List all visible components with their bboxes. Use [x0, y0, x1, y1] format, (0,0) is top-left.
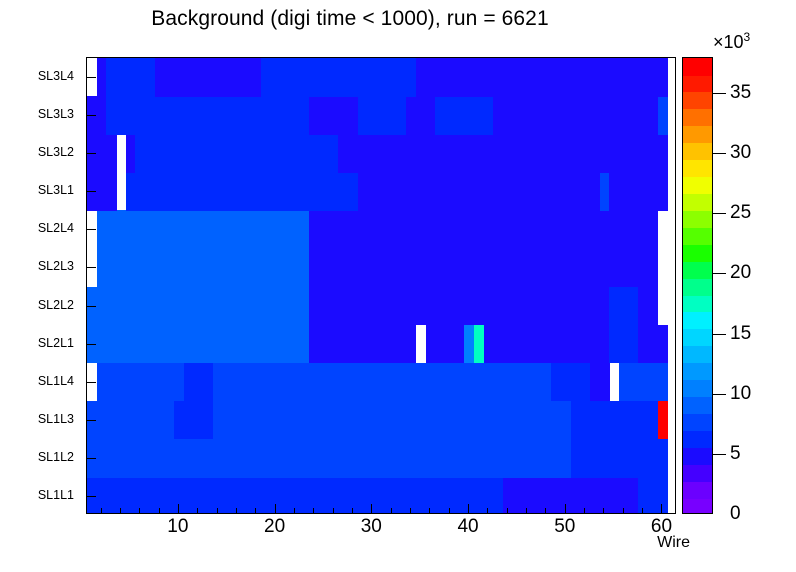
color-bar-segment [683, 244, 712, 262]
y-axis-tick [87, 77, 96, 78]
color-bar-tick [713, 394, 726, 395]
color-bar-tick-label: 25 [730, 202, 751, 224]
x-axis-minor-tick [603, 508, 604, 514]
y-axis-tick-label: SL2L2 [38, 298, 74, 312]
y-axis-tick [87, 496, 96, 497]
y-axis-tick-label: SL3L2 [38, 145, 74, 159]
color-bar-segment [683, 160, 712, 178]
color-bar-tick [713, 334, 726, 335]
x-axis-major-tick [661, 504, 662, 514]
color-bar-axis: 05101520253035 [713, 57, 793, 514]
x-axis-minor-tick [526, 508, 527, 514]
color-bar-segment [683, 143, 712, 161]
color-bar-tick-label: 35 [730, 82, 751, 104]
color-bar-segment [683, 430, 712, 448]
heatmap-cell [648, 287, 658, 326]
y-axis-tick [87, 458, 96, 459]
x-axis-minor-tick [255, 508, 256, 514]
x-axis-minor-tick [642, 508, 643, 514]
x-axis-minor-tick [545, 508, 546, 514]
x-axis-minor-tick [429, 508, 430, 514]
x-axis-major-tick [178, 504, 179, 514]
color-bar-exponent-base: ×10 [713, 32, 744, 52]
y-axis-tick-label: SL2L3 [38, 259, 74, 273]
color-bar-tick-label: 20 [730, 262, 751, 284]
x-axis-minor-tick [236, 508, 237, 514]
color-bar-tick-label: 5 [730, 443, 741, 465]
color-bar-segment [683, 278, 712, 296]
heatmap-cell [106, 134, 116, 173]
x-axis-minor-tick [487, 508, 488, 514]
heatmap-cell [658, 401, 668, 440]
y-axis-tick [87, 306, 96, 307]
x-axis-minor-tick [584, 508, 585, 514]
heatmap-cell [406, 325, 416, 364]
color-bar-exponent-power: 3 [744, 30, 751, 44]
heatmap-cell [658, 477, 668, 514]
y-axis-tick [87, 420, 96, 421]
color-bar-tick-label: 15 [730, 323, 751, 345]
x-axis-minor-tick [120, 508, 121, 514]
color-bar [682, 57, 713, 514]
color-bar-segment [683, 92, 712, 110]
color-bar-segment [683, 58, 712, 76]
y-axis-tick-label: SL3L1 [38, 183, 74, 197]
heatmap-cell [658, 439, 668, 478]
color-bar-segment [683, 126, 712, 144]
x-axis-minor-tick [217, 508, 218, 514]
color-bar-segment [683, 329, 712, 347]
y-axis-tick-label: SL1L2 [38, 450, 74, 464]
color-bar-segment [683, 210, 712, 228]
color-bar-segment [683, 346, 712, 364]
heatmap-cell [658, 172, 668, 211]
color-bar-segment [683, 295, 712, 313]
heatmap-cell [658, 58, 668, 97]
page-title: Background (digi time < 1000), run = 662… [0, 7, 700, 31]
color-bar-segment [683, 464, 712, 482]
x-axis-minor-tick [159, 508, 160, 514]
color-bar-segment [683, 176, 712, 194]
color-bar-tick-label: 10 [730, 383, 751, 405]
x-axis-minor-tick [507, 508, 508, 514]
color-bar-segment [683, 109, 712, 127]
y-axis-tick-label: SL3L4 [38, 69, 74, 83]
x-axis-minor-tick [197, 508, 198, 514]
heatmap-cell [658, 363, 668, 402]
x-axis-minor-tick [313, 508, 314, 514]
y-axis-tick [87, 267, 96, 268]
color-bar-tick [713, 153, 726, 154]
x-axis-title: Wire [0, 534, 690, 552]
color-bar-tick [713, 273, 726, 274]
color-bar-exponent: ×103 [713, 30, 750, 53]
heatmap-cell [658, 134, 668, 173]
heatmap-cell [600, 363, 610, 402]
x-axis-major-tick [371, 504, 372, 514]
x-axis-minor-tick [101, 508, 102, 514]
y-axis-tick-label: SL1L1 [38, 488, 74, 502]
heatmap-cells [87, 58, 675, 513]
color-bar-segment [683, 193, 712, 211]
y-axis-tick [87, 229, 96, 230]
color-bar-tick-label: 30 [730, 142, 751, 164]
heatmap-cell [658, 96, 668, 135]
root-canvas: Background (digi time < 1000), run = 662… [0, 0, 796, 572]
y-axis-tick [87, 344, 96, 345]
heatmap-cell [106, 172, 116, 211]
x-axis-minor-tick [139, 508, 140, 514]
x-axis-minor-tick [449, 508, 450, 514]
y-axis-labels: SL3L4SL3L3SL3L2SL3L1SL2L4SL2L3SL2L2SL2L1… [0, 57, 82, 514]
color-bar-segment [683, 380, 712, 398]
x-axis-minor-tick [410, 508, 411, 514]
color-bar-segment [683, 481, 712, 499]
heatmap-cell [648, 248, 658, 287]
color-bar-segment [683, 312, 712, 330]
x-axis-major-tick [468, 504, 469, 514]
y-axis-tick-label: SL2L4 [38, 221, 74, 235]
y-axis-tick [87, 115, 96, 116]
y-axis-tick [87, 191, 96, 192]
color-bar-tick [713, 213, 726, 214]
color-bar-segment [683, 447, 712, 465]
heatmap-cell [648, 210, 658, 249]
heatmap-cell [658, 325, 668, 364]
y-axis-tick-label: SL1L3 [38, 412, 74, 426]
x-axis-minor-tick [294, 508, 295, 514]
color-bar-segment [683, 363, 712, 381]
color-bar-segment [683, 261, 712, 279]
x-axis-major-tick [275, 504, 276, 514]
y-axis-tick [87, 382, 96, 383]
color-bar-tick [713, 454, 726, 455]
y-axis-tick-label: SL2L1 [38, 336, 74, 350]
y-axis-tick [87, 153, 96, 154]
x-axis-minor-tick [391, 508, 392, 514]
x-axis-minor-tick [623, 508, 624, 514]
x-axis-minor-tick [333, 508, 334, 514]
color-bar-segment [683, 227, 712, 245]
heatmap-plot-area [86, 57, 676, 514]
x-axis-major-tick [565, 504, 566, 514]
color-bar-segment [683, 498, 712, 514]
x-axis-minor-tick [352, 508, 353, 514]
y-axis-tick-label: SL1L4 [38, 374, 74, 388]
color-bar-segment [683, 413, 712, 431]
color-bar-tick [713, 93, 726, 94]
y-axis-tick-label: SL3L3 [38, 107, 74, 121]
color-bar-segment [683, 397, 712, 415]
color-bar-tick-label: 0 [730, 503, 741, 525]
color-bar-segment [683, 75, 712, 93]
